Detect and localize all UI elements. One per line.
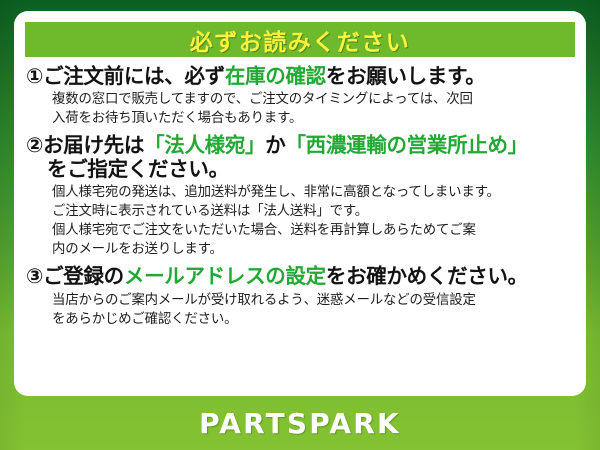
notice-item-3-highlight: メールアドレスの設定 [124,264,326,288]
notice-item-2-highlight: 「法人様宛」 [144,133,265,157]
page-title: 必ずお読みください [190,23,411,57]
notice-item-2-head-pre: お届け先は [43,133,144,157]
notice-list: ①ご注文前には、必ず在庫の確認をお願いします。 複数の窓口で販売してますので、ご… [14,65,586,335]
notice-item-1-body: 複数の窓口で販売してますので、ご注文のタイミングによっては、次回 入荷をお待ち頂… [26,90,576,128]
notice-item-3-marker: ③ [26,264,43,288]
notice-item-2: ②お届け先は「法人様宛」か「西濃運輸の営業所止め」 をご指定ください。 個人様宅… [26,134,576,259]
notice-item-2-highlight-2: 「西濃運輸の営業所止め」 [285,133,527,157]
notice-item-1-body-line-1: 複数の窓口で販売してますので、ご注文のタイミングによっては、次回 [52,90,576,109]
notice-item-2-heading-line-2: をご指定ください。 [26,158,576,181]
notice-item-2-head-mid: か [265,133,285,157]
notice-item-2-body-line-4: 内のメールをお送りします。 [52,240,576,259]
notice-item-3-body-line-1: 当店からのご案内メールが受け取れるよう、迷惑メールなどの受信設定 [52,291,576,310]
content-panel: 必ずお読みください ①ご注文前には、必ず在庫の確認をお願いします。 複数の窓口で… [14,11,586,396]
notice-item-3: ③ご登録のメールアドレスの設定をお確かめください。 当店からのご案内メールが受け… [26,265,576,328]
notice-item-2-body-line-1: 個人様宅宛の発送は、追加送料が発生し、非常に高額となってしまいます。 [52,183,576,202]
notice-item-2-body-line-3: 個人様宅宛でご注文をいただいた場合、送料を再計算しあらためてご案 [52,221,576,240]
brand-name: PARTSPARK [199,407,401,440]
notice-banner: 必ずお読みください ①ご注文前には、必ず在庫の確認をお願いします。 複数の窓口で… [0,0,600,450]
notice-item-2-body-line-2: ご注文時に表示されている送料は「法人送料」です。 [52,202,576,221]
brand-footer: PARTSPARK [0,396,600,450]
notice-item-1-head-post: をお願いします。 [326,64,486,88]
notice-item-2-marker: ② [26,133,43,157]
title-bar: 必ずお読みください [25,22,575,57]
notice-item-3-heading: ③ご登録のメールアドレスの設定をお確かめください。 [26,265,576,288]
notice-item-1-body-line-2: 入荷をお待ち頂いただく場合もあります。 [52,109,576,128]
notice-item-3-head-pre: ご登録の [43,264,124,288]
notice-item-2-body: 個人様宅宛の発送は、追加送料が発生し、非常に高額となってしまいます。 ご注文時に… [26,183,576,259]
notice-item-2-heading: ②お届け先は「法人様宛」か「西濃運輸の営業所止め」 [26,134,576,157]
notice-item-1-head-pre: ご注文前には、必ず [43,64,225,88]
notice-item-1: ①ご注文前には、必ず在庫の確認をお願いします。 複数の窓口で販売してますので、ご… [26,65,576,128]
notice-item-3-body-line-2: をあらかじめご確認ください。 [52,310,576,329]
notice-item-3-head-post: をお確かめください。 [326,264,528,288]
notice-item-1-marker: ① [26,64,43,88]
notice-item-1-highlight: 在庫の確認 [225,64,326,88]
notice-item-3-body: 当店からのご案内メールが受け取れるよう、迷惑メールなどの受信設定 をあらかじめご… [26,291,576,329]
notice-item-1-heading: ①ご注文前には、必ず在庫の確認をお願いします。 [26,65,576,88]
